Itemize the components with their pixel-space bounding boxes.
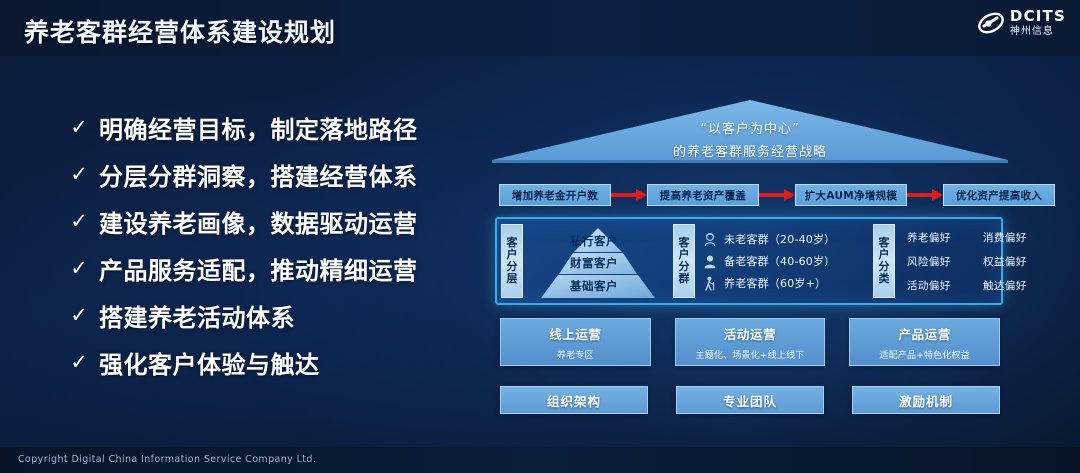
operation-subtitle: 养老专区 [557,348,594,361]
preference-tag-grid: 养老偏好 消费偏好 风险偏好 权益偏好 活动偏好 触达偏好 [895,223,1037,299]
preference-tag: 活动偏好 [907,278,961,293]
preference-tag: 养老偏好 [907,230,961,245]
check-icon: ✓ [70,164,88,185]
foundation-card[interactable]: 激励机制 [852,386,1000,414]
foundation-label: 组织架构 [547,391,601,410]
operation-title: 线上运营 [549,324,601,343]
foundation-row: 组织架构 专业团队 激励机制 [500,386,1000,414]
person-bust-icon [703,254,717,269]
goal-chain: 增加养老金开户数 提高养老资产覆盖 扩大AUM净增规模 优化资产提高收入 [499,184,1001,206]
category-tab-c4: 类 [879,273,890,285]
bullet-label: 强化客户体验与触达 [99,345,320,380]
preference-tag-row: 风险偏好 权益偏好 [907,254,1037,269]
bullet-label: 建设养老画像，数据驱动运营 [99,204,418,239]
brand-logo: DCITS 神州信息 [977,9,1066,37]
bullet-item: ✓ 搭建养老活动体系 [70,292,470,339]
logo-subname: 神州信息 [1010,27,1066,37]
slide-footer: Copyright Digital China Information Serv… [0,447,1080,473]
operation-card[interactable]: 产品运营 适配产品+特色化权益 [849,318,1000,366]
customer-group-label: 养老客群（60岁+） [724,275,826,291]
operation-subtitle: 适配产品+特色化权益 [879,348,970,361]
logo-text-block: DCITS 神州信息 [1010,9,1066,37]
bullet-list: ✓ 明确经营目标，制定落地路径 ✓ 分层分群洞察，搭建经营体系 ✓ 建设养老画像… [70,104,470,386]
preference-tag: 消费偏好 [983,230,1037,245]
bullet-item: ✓ 强化客户体验与触达 [70,339,470,386]
red-right-arrow-icon [907,184,943,206]
slide-canvas: 养老客群经营体系建设规划 DCITS 神州信息 ✓ 明确经营目标，制定落地路径 … [0,0,1080,473]
red-right-arrow-icon [759,184,795,206]
customer-group-item: 备老客群（40-60岁） [703,253,873,269]
operation-title: 产品运营 [898,324,950,343]
bullet-label: 产品服务适配，推动精细运营 [99,251,418,286]
bullet-item: ✓ 分层分群洞察，搭建经营体系 [70,151,470,198]
goal-step[interactable]: 增加养老金开户数 [499,184,611,206]
operations-row: 线上运营 养老专区 活动运营 主题化、场景化+线上线下 产品运营 适配产品+特色… [500,318,1000,366]
preference-tag: 触达偏好 [983,278,1037,293]
slide-header: 养老客群经营体系建设规划 DCITS 神州信息 [0,0,1080,56]
customer-segmentation-panel: 客 户 分 层 [495,217,1003,305]
foundation-card[interactable]: 组织架构 [500,386,648,414]
category-vertical-tab: 客 户 分 类 [873,224,895,298]
customer-group-item: 未老客群（20-40岁） [703,231,873,247]
foundation-label: 专业团队 [723,391,777,410]
goal-step[interactable]: 提高养老资产覆盖 [647,184,759,206]
preference-tag-row: 养老偏好 消费偏好 [907,230,1037,245]
customer-group-list: 未老客群（20-40岁） 备老客群（40-60岁） [695,223,873,299]
woman-head-icon [703,232,717,247]
check-icon: ✓ [70,117,88,138]
bullet-item: ✓ 明确经营目标，制定落地路径 [70,104,470,151]
preference-tag: 权益偏好 [983,254,1037,269]
strategy-diagram: “以客户为中心” 的养老客群服务经营战略 增加养老金开户数 提高养老资产覆盖 扩… [480,92,1020,432]
strategy-roof: “以客户为中心” 的养老客群服务经营战略 [492,98,1008,166]
preference-tag: 风险偏好 [907,254,961,269]
check-icon: ✓ [70,305,88,326]
bullet-item: ✓ 建设养老画像，数据驱动运营 [70,198,470,245]
logo-name: DCITS [1010,9,1066,24]
customer-tier-pyramid: 私行客户 财富客户 基础客户 [523,223,673,299]
bullet-label: 明确经营目标，制定落地路径 [99,110,418,145]
foundation-card[interactable]: 专业团队 [676,386,824,414]
bullet-label: 分层分群洞察，搭建经营体系 [99,157,418,192]
customer-group-item: 养老客群（60岁+） [703,275,873,291]
elderly-cane-icon [703,276,717,291]
group-tab-c4: 群 [679,273,690,285]
customer-group-label: 未老客群（20-40岁） [724,231,835,247]
check-icon: ✓ [70,211,88,232]
dcits-swirl-icon [977,9,1005,37]
bullet-label: 搭建养老活动体系 [99,298,295,333]
operation-title: 活动运营 [724,324,776,343]
bullet-item: ✓ 产品服务适配，推动精细运营 [70,245,470,292]
goal-step[interactable]: 扩大AUM净增规模 [795,184,907,206]
check-icon: ✓ [70,258,88,279]
customer-group-label: 备老客群（40-60岁） [724,253,835,269]
preference-tag-row: 活动偏好 触达偏好 [907,278,1037,293]
page-title: 养老客群经营体系建设规划 [24,13,336,49]
group-vertical-tab: 客 户 分 群 [673,224,695,298]
operation-card[interactable]: 活动运营 主题化、场景化+线上线下 [675,318,826,366]
goal-step[interactable]: 优化资产提高收入 [943,184,1055,206]
copyright-text: Copyright Digital China Information Serv… [18,454,316,465]
red-right-arrow-icon [611,184,647,206]
foundation-label: 激励机制 [899,391,953,410]
check-icon: ✓ [70,352,88,373]
operation-card[interactable]: 线上运营 养老专区 [500,318,651,366]
tier-tab-c4: 层 [507,273,518,285]
operation-subtitle: 主题化、场景化+线上线下 [696,348,805,361]
pyramid-shape [527,226,669,300]
tier-vertical-tab: 客 户 分 层 [501,224,523,298]
